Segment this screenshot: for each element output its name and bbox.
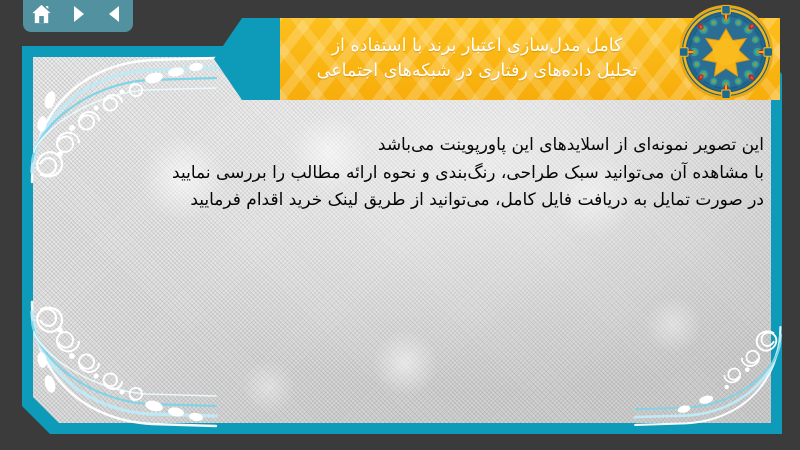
forward-button[interactable] [65, 1, 91, 27]
body-line-3: در صورت تمایل به دریافت فایل کامل، می‌تو… [64, 187, 764, 215]
persian-medallion-ornament [678, 4, 774, 100]
back-icon [104, 3, 126, 25]
title-line-1: کامل مدل‌سازی اعتبار برند با استفاده از [332, 34, 623, 59]
slide-preview-screen: کامل مدل‌سازی اعتبار برند با استفاده از … [0, 0, 800, 450]
slide-canvas [33, 57, 771, 423]
navigation-toolbar [23, 0, 133, 32]
home-icon [30, 3, 53, 26]
body-line-2: با مشاهده آن می‌توانید سبک طراحی، رنگ‌بن… [64, 160, 764, 188]
slide-body-text: این تصویر نمونه‌ای از اسلایدهای این پاور… [64, 132, 764, 215]
home-button[interactable] [28, 1, 54, 27]
back-button[interactable] [102, 1, 128, 27]
body-line-1: این تصویر نمونه‌ای از اسلایدهای این پاور… [64, 132, 764, 160]
title-line-2: تحلیل داده‌های رفتاری در شبکه‌های اجتماع… [317, 59, 638, 84]
forward-icon [67, 3, 89, 25]
